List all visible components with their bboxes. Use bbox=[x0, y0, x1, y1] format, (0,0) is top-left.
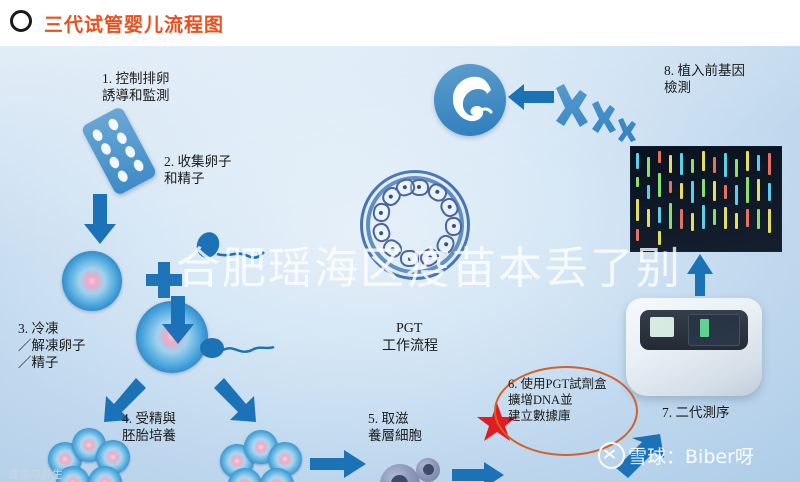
arrow-to-embryo-right bbox=[212, 376, 270, 424]
sperm-fertilizing-icon bbox=[198, 334, 276, 366]
chromosome-icons bbox=[552, 82, 642, 156]
step-6-label: 6. 使用PGT試劑盒 擴增DNA並 建立數據庫 bbox=[508, 376, 607, 424]
step-2-label: 2. 收集卵子 和精子 bbox=[164, 153, 232, 187]
fetus-icon bbox=[434, 64, 506, 136]
sperm-icon bbox=[192, 232, 266, 272]
step-3-label: 3. 冷凍 ／解凍卵子 ／精子 bbox=[18, 320, 86, 371]
step-1-label: 1. 控制排卵 誘導和監測 bbox=[102, 70, 170, 104]
blastocyst-icon bbox=[360, 170, 470, 280]
circle-outline-icon bbox=[10, 10, 32, 32]
step-4-label: 4. 受精與 胚胎培養 bbox=[122, 410, 176, 444]
footnote-text: 健康与养生 bbox=[8, 466, 63, 482]
arrow-to-step5 bbox=[310, 450, 368, 478]
step-5-label: 5. 取滋 養層細胞 bbox=[368, 410, 422, 444]
arrow-to-fertilization bbox=[160, 296, 196, 346]
ivf-flow-diagram: 1. 控制排卵 誘導和監測 3. 冷凍 ／解凍卵子 ／精子 2. 收集卵子 和精… bbox=[0, 46, 800, 482]
pill-pack-icon bbox=[80, 106, 157, 196]
center-label-pgt: PGT bbox=[396, 320, 422, 337]
page-header: 三代试管婴儿流程图 bbox=[0, 0, 800, 44]
trophectoderm-cells-icon bbox=[380, 456, 446, 482]
sequencer-machine-icon bbox=[626, 298, 762, 396]
step-8-label: 8. 植入前基因 檢測 bbox=[664, 62, 745, 96]
step-7-label: 7. 二代測序 bbox=[662, 404, 730, 421]
oocyte-icon bbox=[62, 251, 122, 311]
arrow-to-step8 bbox=[686, 254, 714, 298]
genetic-screening-image bbox=[630, 146, 782, 252]
arrow-chromosomes-to-fetus bbox=[508, 84, 554, 112]
arrow-step1-to-step3 bbox=[82, 194, 118, 246]
center-label-workflow: 工作流程 bbox=[382, 338, 438, 355]
xueqiu-logo-icon bbox=[598, 442, 625, 469]
arrow-step5-to-step6 bbox=[452, 462, 506, 482]
plus-icon bbox=[146, 262, 182, 298]
embryo-cluster-right bbox=[218, 428, 304, 482]
page-title: 三代试管婴儿流程图 bbox=[44, 10, 224, 37]
screenshot-root: 三代试管婴儿流程图 1. 控制排卵 誘導和監測 3. 冷凍 ／解凍卵子 ／精子 … bbox=[0, 0, 800, 482]
